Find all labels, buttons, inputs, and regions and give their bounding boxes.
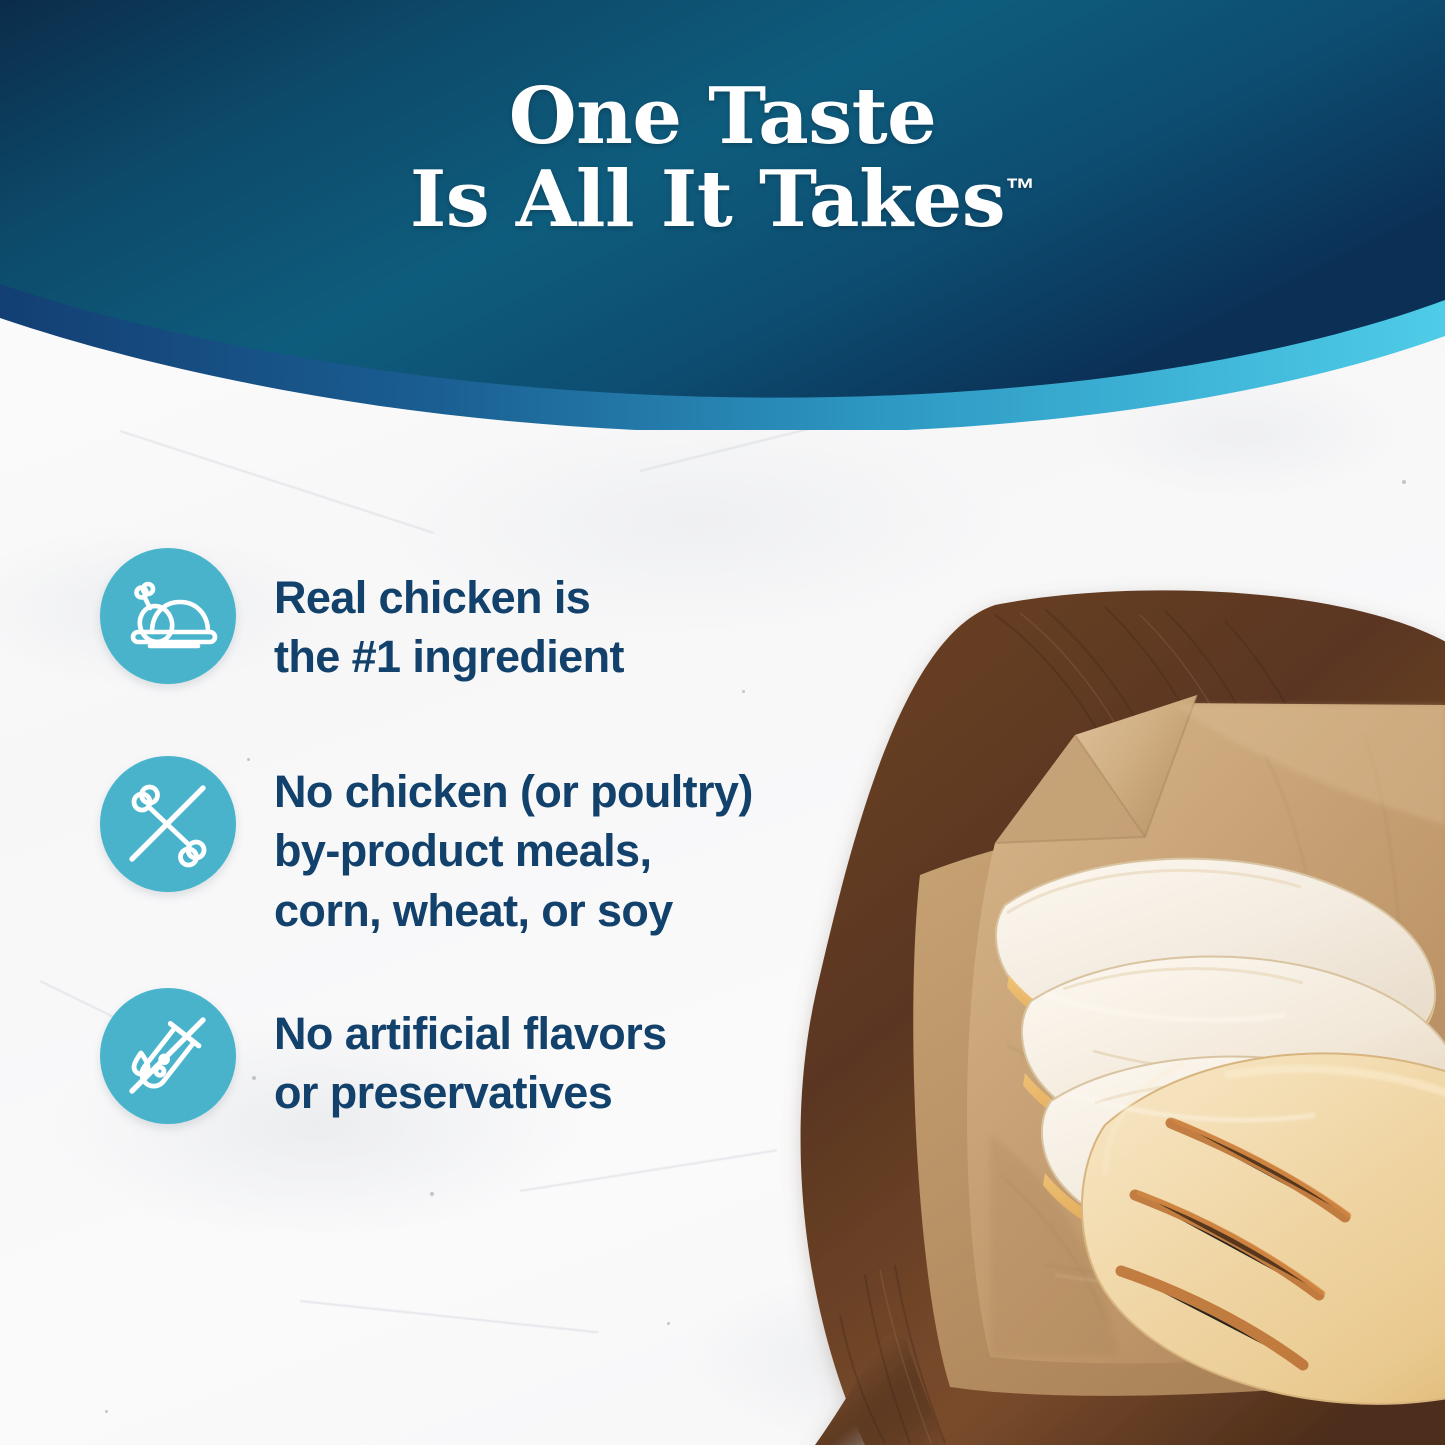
feature-item-no-artificial: No artificial flavors or preservatives <box>100 988 667 1124</box>
page-title: One Taste Is All It Takes™ <box>0 76 1445 241</box>
roast-chicken-platter-icon <box>100 548 236 684</box>
headline-line-2-wrapper: Is All It Takes™ <box>0 159 1445 242</box>
marble-speck <box>1402 480 1406 484</box>
product-infographic: One Taste Is All It Takes™ <box>0 0 1445 1445</box>
no-test-tube-slash-icon <box>100 988 236 1124</box>
marble-speck <box>105 1410 108 1413</box>
feature-text-real-chicken: Real chicken is the #1 ingredient <box>274 548 624 687</box>
feature-text-no-byproducts: No chicken (or poultry) by-product meals… <box>274 756 753 940</box>
hero-header: One Taste Is All It Takes™ <box>0 0 1445 430</box>
marble-speck <box>667 1322 670 1325</box>
chicken-photo-illustration <box>745 575 1445 1445</box>
chicken-photo <box>745 575 1445 1445</box>
marble-speck <box>430 1192 434 1196</box>
trademark-symbol: ™ <box>1005 173 1035 206</box>
feature-item-no-byproducts: No chicken (or poultry) by-product meals… <box>100 756 753 940</box>
feature-text-no-artificial: No artificial flavors or preservatives <box>274 988 667 1123</box>
feature-item-real-chicken: Real chicken is the #1 ingredient <box>100 548 624 687</box>
headline-line-1: One Taste <box>509 71 937 162</box>
headline-line-2: Is All It Takes <box>410 154 1005 245</box>
no-bone-slash-icon <box>100 756 236 892</box>
